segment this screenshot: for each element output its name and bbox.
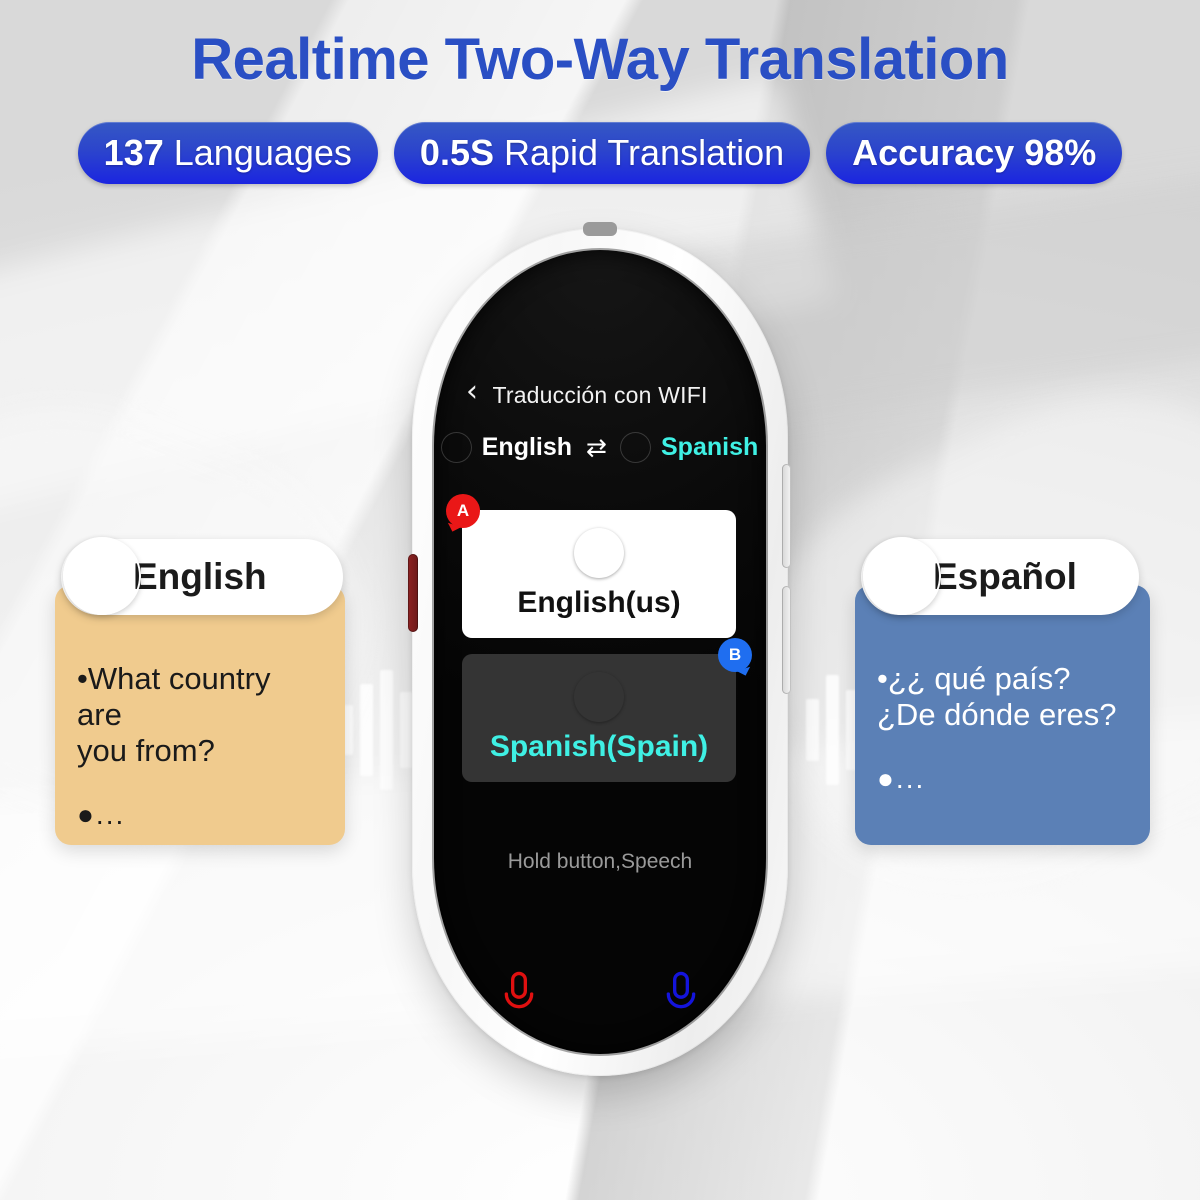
product-marketing-image: Realtime Two-Way Translation 137 Languag… — [0, 0, 1200, 1200]
pill-strong-text: Accuracy 98% — [852, 132, 1096, 174]
microphone-icon-red[interactable] — [500, 968, 538, 1020]
left-card-body: English •What country are you from? ●... — [55, 585, 345, 845]
device-side-button-upper[interactable] — [782, 464, 791, 568]
speech-hint-text: Hold button,Speech — [434, 850, 766, 874]
right-card-line: •¿¿ qué país? — [877, 661, 1128, 697]
right-card-body: Español •¿¿ qué país? ¿De dónde eres? ●.… — [855, 585, 1150, 845]
device-side-button-lower[interactable] — [782, 586, 791, 694]
left-card-language-pill: English — [61, 539, 343, 615]
feature-pill-speed: 0.5S Rapid Translation — [394, 122, 810, 184]
screen-title: Traducción con WIFI — [492, 382, 707, 409]
left-card-language-label: English — [133, 556, 267, 598]
device-screen: ‹ Traducción con WIFI English ⇄ Spanish … — [434, 250, 766, 1054]
speaker-badge-b: B — [718, 638, 752, 672]
pill-strong-text: 0.5S — [420, 132, 494, 174]
page-title: Realtime Two-Way Translation — [0, 26, 1200, 93]
right-card-language-pill: Español — [861, 539, 1139, 615]
es-flag-icon — [574, 672, 624, 722]
left-language-card: English •What country are you from? ●... — [55, 585, 345, 845]
language-card-a[interactable]: A English(us) — [462, 510, 736, 638]
screen-topbar: ‹ Traducción con WIFI — [434, 378, 766, 412]
speaker-badge-a: A — [446, 494, 480, 528]
right-card-line: ¿De dónde eres? — [877, 697, 1128, 733]
left-card-pending-dots: ●... — [77, 799, 323, 831]
back-icon[interactable]: ‹ — [466, 377, 478, 407]
device-top-nub — [583, 222, 617, 236]
pill-rest-text: Rapid Translation — [504, 132, 784, 174]
device-side-button-red[interactable] — [408, 554, 418, 632]
right-card-pending-dots: ●... — [877, 763, 1128, 795]
right-language-card: Español •¿¿ qué país? ¿De dónde eres? ●.… — [855, 585, 1150, 845]
microphone-icon-blue[interactable] — [662, 968, 700, 1020]
es-flag-icon — [621, 433, 650, 462]
left-card-text: •What country are you from? — [77, 661, 323, 769]
feature-pill-languages: 137 Languages — [78, 122, 378, 184]
right-card-language-label: Español — [933, 556, 1077, 598]
translator-device: ‹ Traducción con WIFI English ⇄ Spanish … — [412, 228, 788, 1076]
language-card-b[interactable]: B Spanish(Spain) — [462, 654, 736, 782]
language-card-b-label: Spanish(Spain) — [490, 730, 708, 764]
language-card-a-label: English(us) — [517, 586, 680, 620]
right-card-text: •¿¿ qué país? ¿De dónde eres? — [877, 661, 1128, 733]
pill-strong-text: 137 — [104, 132, 164, 174]
device-screen-ui: ‹ Traducción con WIFI English ⇄ Spanish … — [434, 250, 766, 1054]
es-flag-icon — [863, 537, 941, 615]
feature-pill-list: 137 Languages 0.5S Rapid Translation Acc… — [0, 122, 1200, 184]
pill-rest-text: Languages — [174, 132, 352, 174]
target-language-label: Spanish — [661, 433, 758, 462]
us-flag-icon — [574, 528, 624, 578]
left-card-line: •What country are — [77, 661, 323, 733]
us-flag-icon — [63, 537, 141, 615]
left-card-line: you from? — [77, 733, 323, 769]
source-language-label: English — [482, 433, 572, 462]
language-pair-row[interactable]: English ⇄ Spanish — [434, 428, 766, 466]
mic-button-row — [434, 968, 766, 1020]
feature-pill-accuracy: Accuracy 98% — [826, 122, 1122, 184]
us-flag-icon — [442, 433, 471, 462]
header: Realtime Two-Way Translation 137 Languag… — [0, 0, 1200, 200]
swap-languages-icon[interactable]: ⇄ — [586, 433, 607, 462]
